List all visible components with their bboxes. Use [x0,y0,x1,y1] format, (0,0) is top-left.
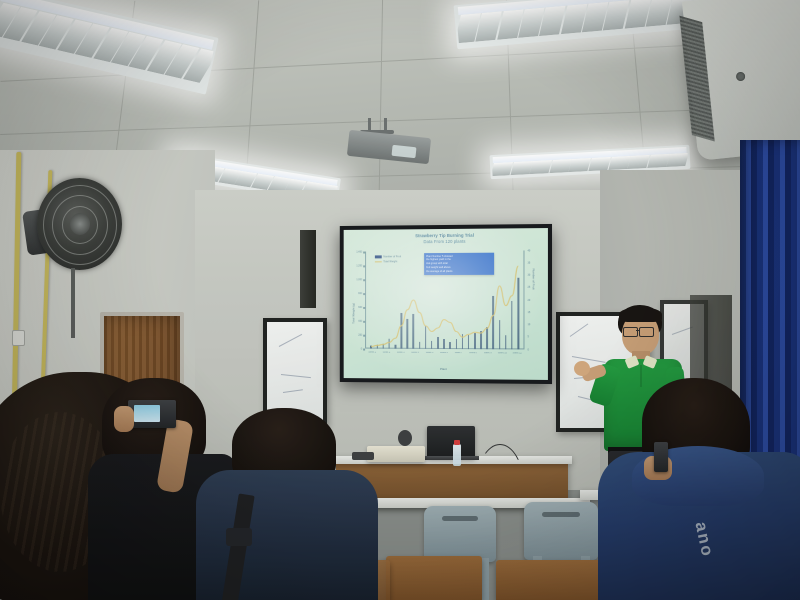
chart-x-tick-label: Week 4 [409,351,421,353]
fan-cage [37,178,122,270]
equipment-lens [398,430,412,446]
student-hand [114,406,134,432]
chart-x-tick-label: Week 10 [496,352,508,354]
chart-x-tick-label: Week 5 [424,351,436,353]
chart-y-tick-label: 1,200 [350,264,363,267]
water-bottle[interactable] [453,444,461,466]
wall-air-conditioner [682,0,800,161]
bag-buckle [226,528,252,546]
laptop-screen[interactable] [427,426,475,458]
chart-y2-tick-label: 35 [528,261,531,264]
wall-post [300,230,316,308]
chart-x-tick-label: Week 8 [467,352,479,354]
chart-x-tick-label: Week 3 [395,351,407,353]
chart-y-tick-label: 400 [350,319,363,322]
chart-x-tick-label: Week 7 [453,352,465,354]
presenter-glasses [639,327,654,337]
laptop-base[interactable] [424,456,479,460]
camera-screen [134,405,160,422]
chart-y2-tick-label: 15 [528,311,531,314]
phone[interactable] [654,442,668,472]
chart-line-path [371,266,518,347]
chart-y-tick-label: 800 [350,292,363,295]
legend-item-bar: Number of Fruit [375,255,401,258]
chart-plot-area: 02004006008001,0001,2001,400 05101520253… [365,250,524,349]
projected-slide: Strawberry Tip Burning Trial Data From 1… [344,228,548,380]
student-torso [196,470,378,600]
presenter-hand [574,361,590,376]
presenter-glasses-bridge [636,330,639,331]
legend-item-line: Total Weight [375,260,401,263]
slide-callout-box: Plant Number 5 showedthe highest yield i… [424,253,494,275]
chart-legend: Number of Fruit Total Weight [375,255,401,264]
legend-label-bar: Number of Fruit [383,255,401,258]
chart-y2-tick-label: 5 [528,336,529,339]
chart-x-tick-label: Week 2 [381,351,393,353]
chart-x-tick-label: Week 1 [366,351,378,353]
presenter-glasses [623,327,638,337]
legend-label-line: Total Weight [383,260,397,263]
chart-y-tick-label: 1,000 [350,278,363,281]
wall-mounted-fan [25,170,130,280]
chart-y2-tick-label: 30 [528,274,531,277]
chart-y2-tick-label: 0 [528,348,529,351]
wall-socket[interactable] [12,330,25,346]
classroom-photo: Strawberry Tip Burning Trial Data From 1… [0,0,800,600]
legend-swatch-bar [375,256,382,259]
presenter-hair-fringe [619,307,662,322]
student-denim-jacket [196,408,378,600]
legend-swatch-line [375,261,382,262]
chart-y-tick-label: 0 [350,347,363,350]
chart-y2-axis-label: Number of Fruit [532,269,536,290]
chart-y2-tick-label: 25 [528,286,531,289]
chart-x-tick-label: Week 9 [482,352,494,354]
chart-x-axis-label: Plant [440,367,447,371]
chart-y2-tick-label: 20 [528,299,531,302]
slide-title-line-2: Data From 120 plants [344,238,548,246]
chart-x-tick-label: Week 11 [511,352,523,354]
callout-line: the average of all plants [426,269,492,273]
student-blue-hoodie: ano [598,378,800,600]
ceiling-projector [340,118,445,170]
chart-y-tick-label: 200 [350,333,363,336]
projection-screen: Strawberry Tip Burning Trial Data From 1… [340,224,552,384]
fan-pole [71,268,75,338]
student-desk [386,556,482,600]
projector-lens [391,145,416,158]
chart-y-tick-label: 1,400 [350,250,363,253]
chart-y2-tick-label: 40 [528,249,531,252]
chart-y-tick-label: 600 [350,306,363,309]
chart-y2-tick-label: 10 [528,323,531,326]
bottle-cap[interactable] [454,440,460,445]
chart-x-tick-label: Week 6 [438,351,450,353]
